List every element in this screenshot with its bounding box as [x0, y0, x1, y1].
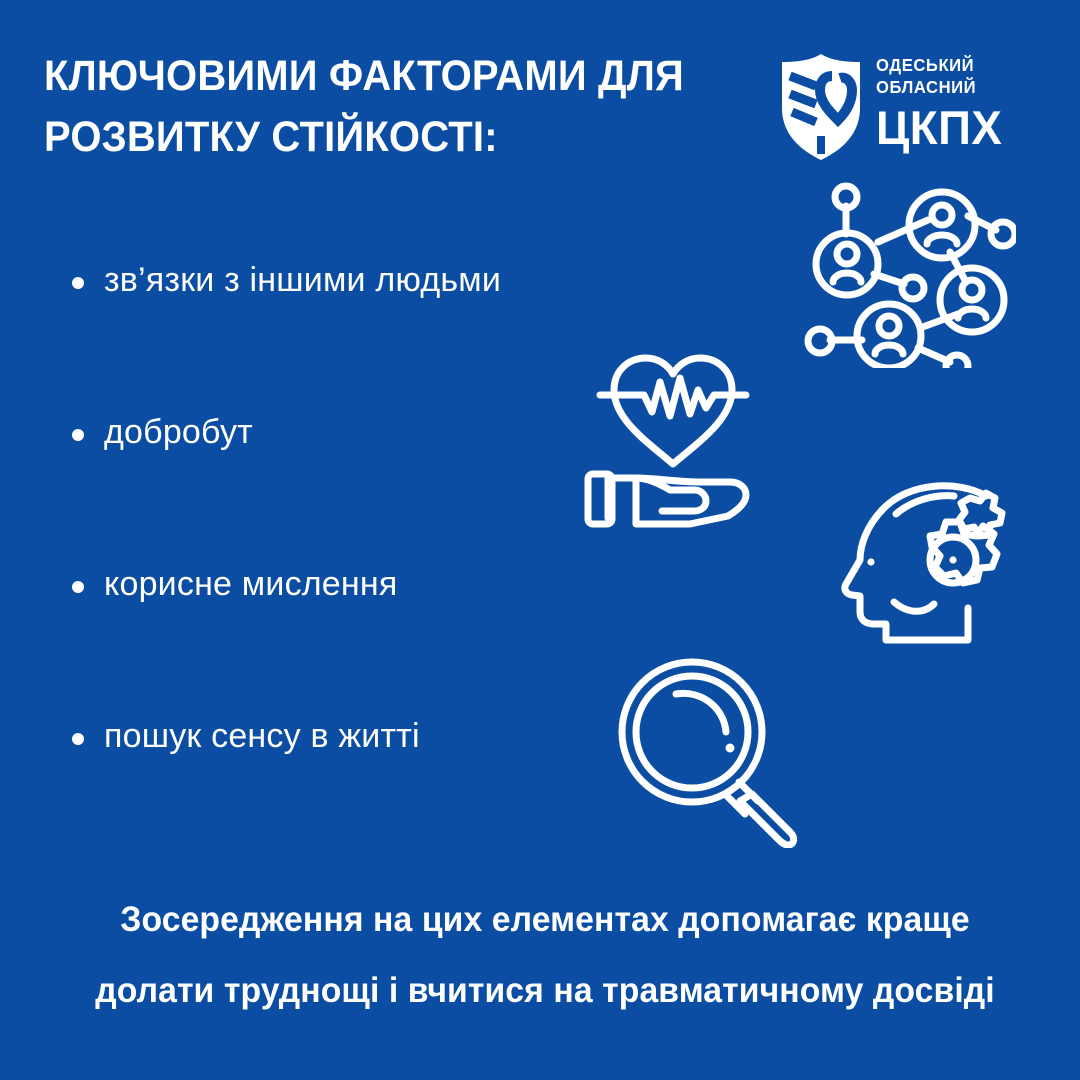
list-item-label: корисне мислення — [104, 562, 397, 608]
logo-abbreviation: ЦКПХ — [876, 104, 1008, 152]
shield-heart-logo-icon — [772, 50, 870, 162]
list-item-label: добробут — [104, 410, 253, 456]
list-item: корисне мислення — [66, 562, 586, 714]
bullet-dot-icon — [72, 581, 84, 593]
list-item-label: пошук сенсу в житті — [104, 714, 420, 760]
page-title: КЛЮЧОВИМИ ФАКТОРАМИ ДЛЯ РОЗВИТКУ СТІЙКОС… — [44, 46, 695, 168]
factors-list: зв’язки з іншими людьми добробут корисне… — [66, 258, 586, 866]
list-item: пошук сенсу в житті — [66, 714, 586, 866]
logo-wordmark: ОДЕСЬКИЙ ОБЛАСНИЙ ЦКПХ — [876, 54, 1012, 152]
list-item-label: зв’язки з іншими людьми — [104, 258, 501, 304]
logo-line-2: ОБЛАСНИЙ — [876, 76, 1005, 98]
list-item: зв’язки з іншими людьми — [66, 258, 586, 410]
magnifying-glass-icon — [608, 652, 804, 848]
organization-logo: ОДЕСЬКИЙ ОБЛАСНИЙ ЦКПХ — [772, 48, 1012, 164]
bullet-dot-icon — [72, 733, 84, 745]
head-with-gears-icon — [838, 472, 1014, 644]
infographic-poster: КЛЮЧОВИМИ ФАКТОРАМИ ДЛЯ РОЗВИТКУ СТІЙКОС… — [0, 0, 1080, 1080]
bullet-dot-icon — [72, 429, 84, 441]
logo-line-1: ОДЕСЬКИЙ — [876, 54, 1005, 76]
footer-caption: Зосередження на цих елементах допомагає … — [75, 884, 1016, 1026]
bullet-dot-icon — [72, 277, 84, 289]
list-item: добробут — [66, 410, 586, 562]
people-network-icon — [800, 178, 1016, 368]
heart-in-hand-icon — [578, 332, 768, 528]
